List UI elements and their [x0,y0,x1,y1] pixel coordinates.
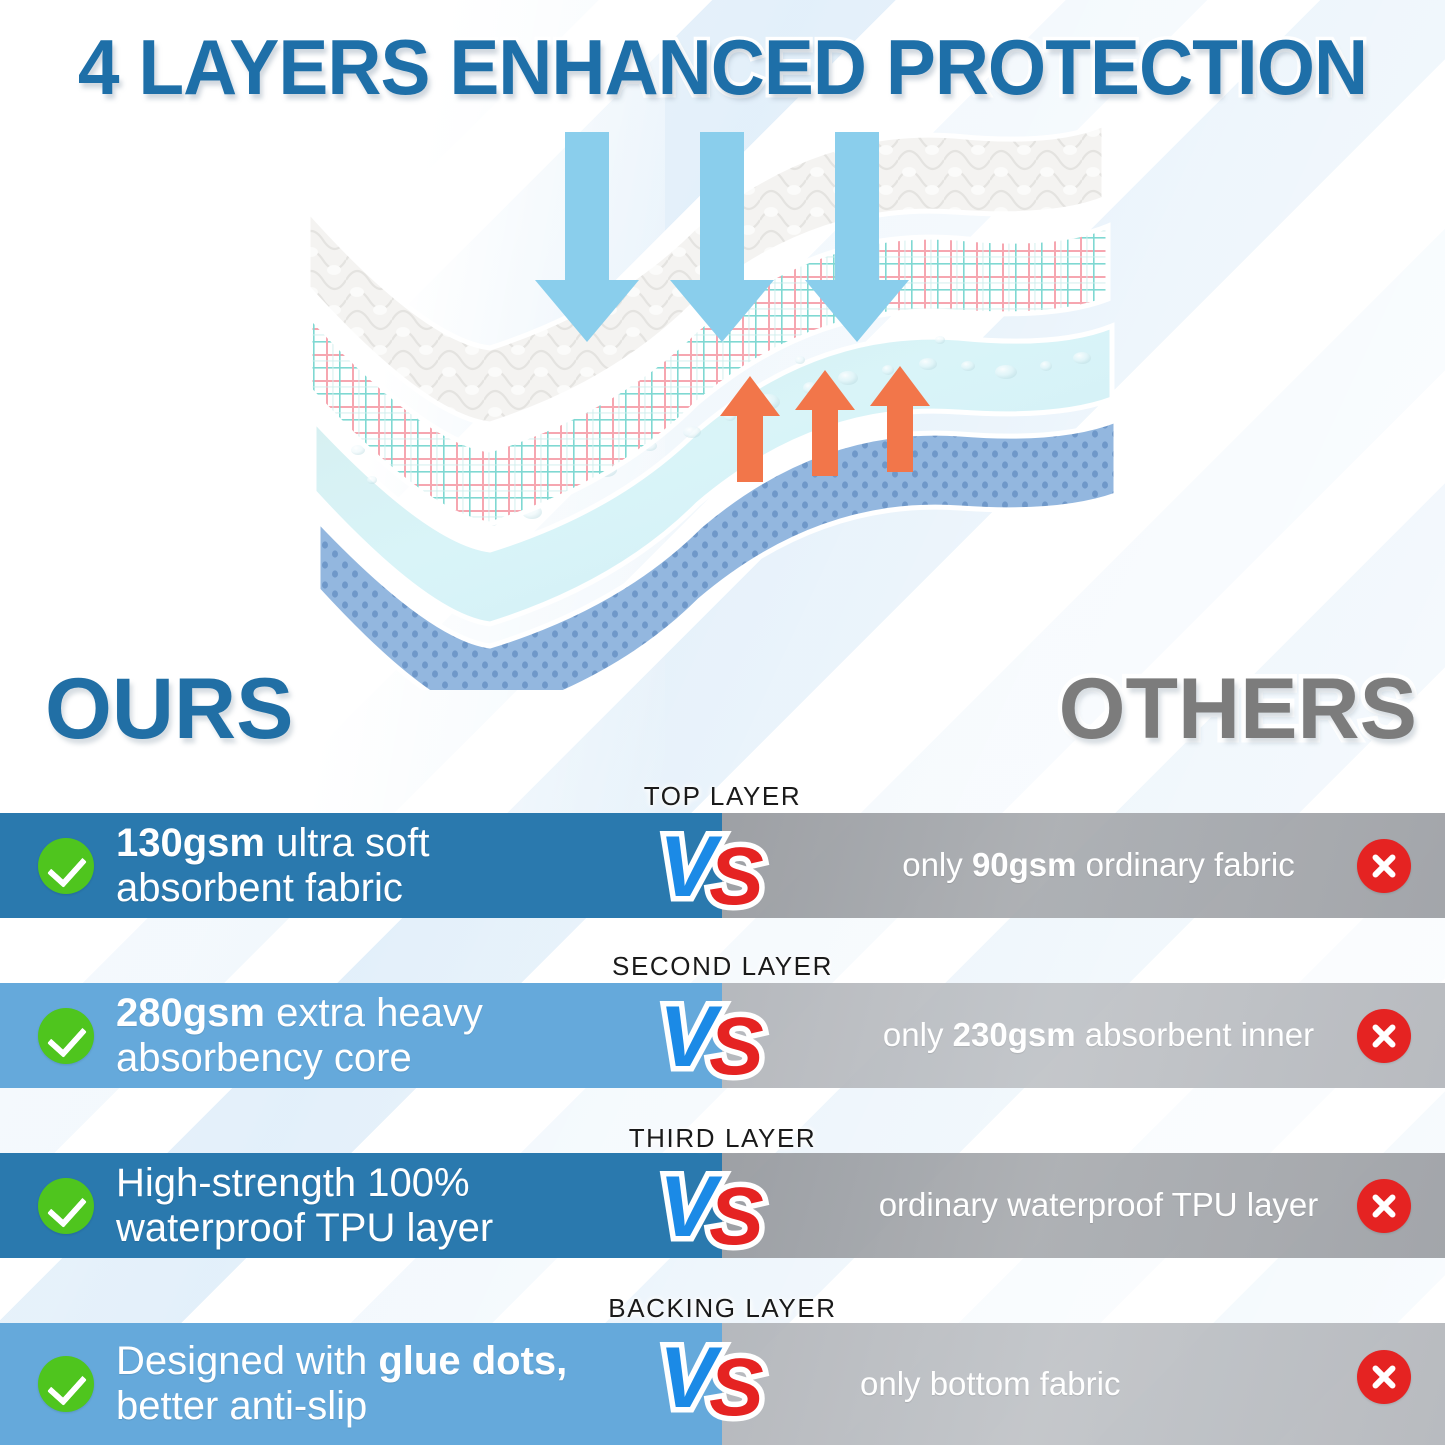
ours-line2-second: absorbency core [116,1036,412,1080]
comparison-row-backing-layer: Designed with glue dots, better anti-sli… [0,1323,1445,1445]
ours-rest-second: extra heavy [265,991,483,1035]
others-post-top: ordinary fabric [1077,846,1295,883]
check-icon [38,1008,94,1064]
ours-line2-backing: better anti-slip [116,1384,367,1428]
page-title: 4 LAYERS ENHANCED PROTECTION [29,22,1416,113]
comparison-table: TOP LAYER 130gsm ultra soft absorbent fa… [0,775,1445,1445]
ours-cell-third-layer: High-strength 100% waterproof TPU layer [0,1153,722,1258]
comparison-row-third-layer: High-strength 100% waterproof TPU layer … [0,1153,1445,1258]
down-arrow-icon-group [535,132,909,342]
check-icon [38,1178,94,1234]
others-cell-backing-layer: only bottom fabric [722,1323,1445,1445]
ours-text-backing-layer: Designed with glue dots, better anti-sli… [116,1339,567,1429]
comparison-row-second-layer: 280gsm extra heavy absorbency core only … [0,983,1445,1088]
ours-column-heading: OURS [45,660,293,759]
ours-text-top-layer: 130gsm ultra soft absorbent fabric [116,821,430,911]
cross-icon [1357,1350,1411,1404]
check-icon [38,1356,94,1412]
ours-lead-third: High-strength 100% [116,1161,470,1205]
ours-cell-backing-layer: Designed with glue dots, better anti-sli… [0,1323,722,1445]
others-bold-second: 230gsm [953,1016,1076,1053]
others-post-second: absorbent inner [1076,1016,1315,1053]
layer-label-backing: BACKING LAYER [0,1293,1445,1324]
ours-line2-third: waterproof TPU layer [116,1206,493,1250]
layered-fabric-illustration [300,120,1130,690]
others-text-third-layer: ordinary waterproof TPU layer [842,1187,1415,1223]
others-pre-second: only [883,1016,953,1053]
ours-rest-top: ultra soft [265,821,430,865]
ours-bold2-backing: glue dots, [378,1339,567,1383]
ours-line2-top: absorbent fabric [116,866,403,910]
up-arrow-icon-group [720,366,930,482]
ours-text-second-layer: 280gsm extra heavy absorbency core [116,991,483,1081]
infographic-stage: 4 LAYERS ENHANCED PROTECTION [0,0,1445,1445]
others-cell-second-layer: only 230gsm absorbent inner [722,983,1445,1088]
cross-icon [1357,1179,1411,1233]
cross-icon [1357,1009,1411,1063]
ours-lead-top: 130gsm [116,821,265,865]
ours-cell-top-layer: 130gsm ultra soft absorbent fabric [0,813,722,918]
others-cell-top-layer: only 90gsm ordinary fabric [722,813,1445,918]
layer-label-third: THIRD LAYER [0,1123,1445,1154]
others-text-backing-layer: only bottom fabric [842,1366,1415,1402]
ours-lead-second: 280gsm [116,991,265,1035]
comparison-row-top-layer: 130gsm ultra soft absorbent fabric only … [0,813,1445,918]
ours-cell-second-layer: 280gsm extra heavy absorbency core [0,983,722,1088]
layer-label-second: SECOND LAYER [0,951,1445,982]
others-bold-top: 90gsm [972,846,1077,883]
layer-label-top: TOP LAYER [0,781,1445,812]
others-column-heading: OTHERS [1059,660,1417,759]
check-icon [38,838,94,894]
ours-text-third-layer: High-strength 100% waterproof TPU layer [116,1161,493,1251]
others-text-top-layer: only 90gsm ordinary fabric [842,847,1415,883]
others-text-second-layer: only 230gsm absorbent inner [842,1017,1415,1053]
cross-icon [1357,839,1411,893]
others-cell-third-layer: ordinary waterproof TPU layer [722,1153,1445,1258]
ours-lead-backing: Designed with [116,1339,378,1383]
others-pre-top: only [902,846,972,883]
